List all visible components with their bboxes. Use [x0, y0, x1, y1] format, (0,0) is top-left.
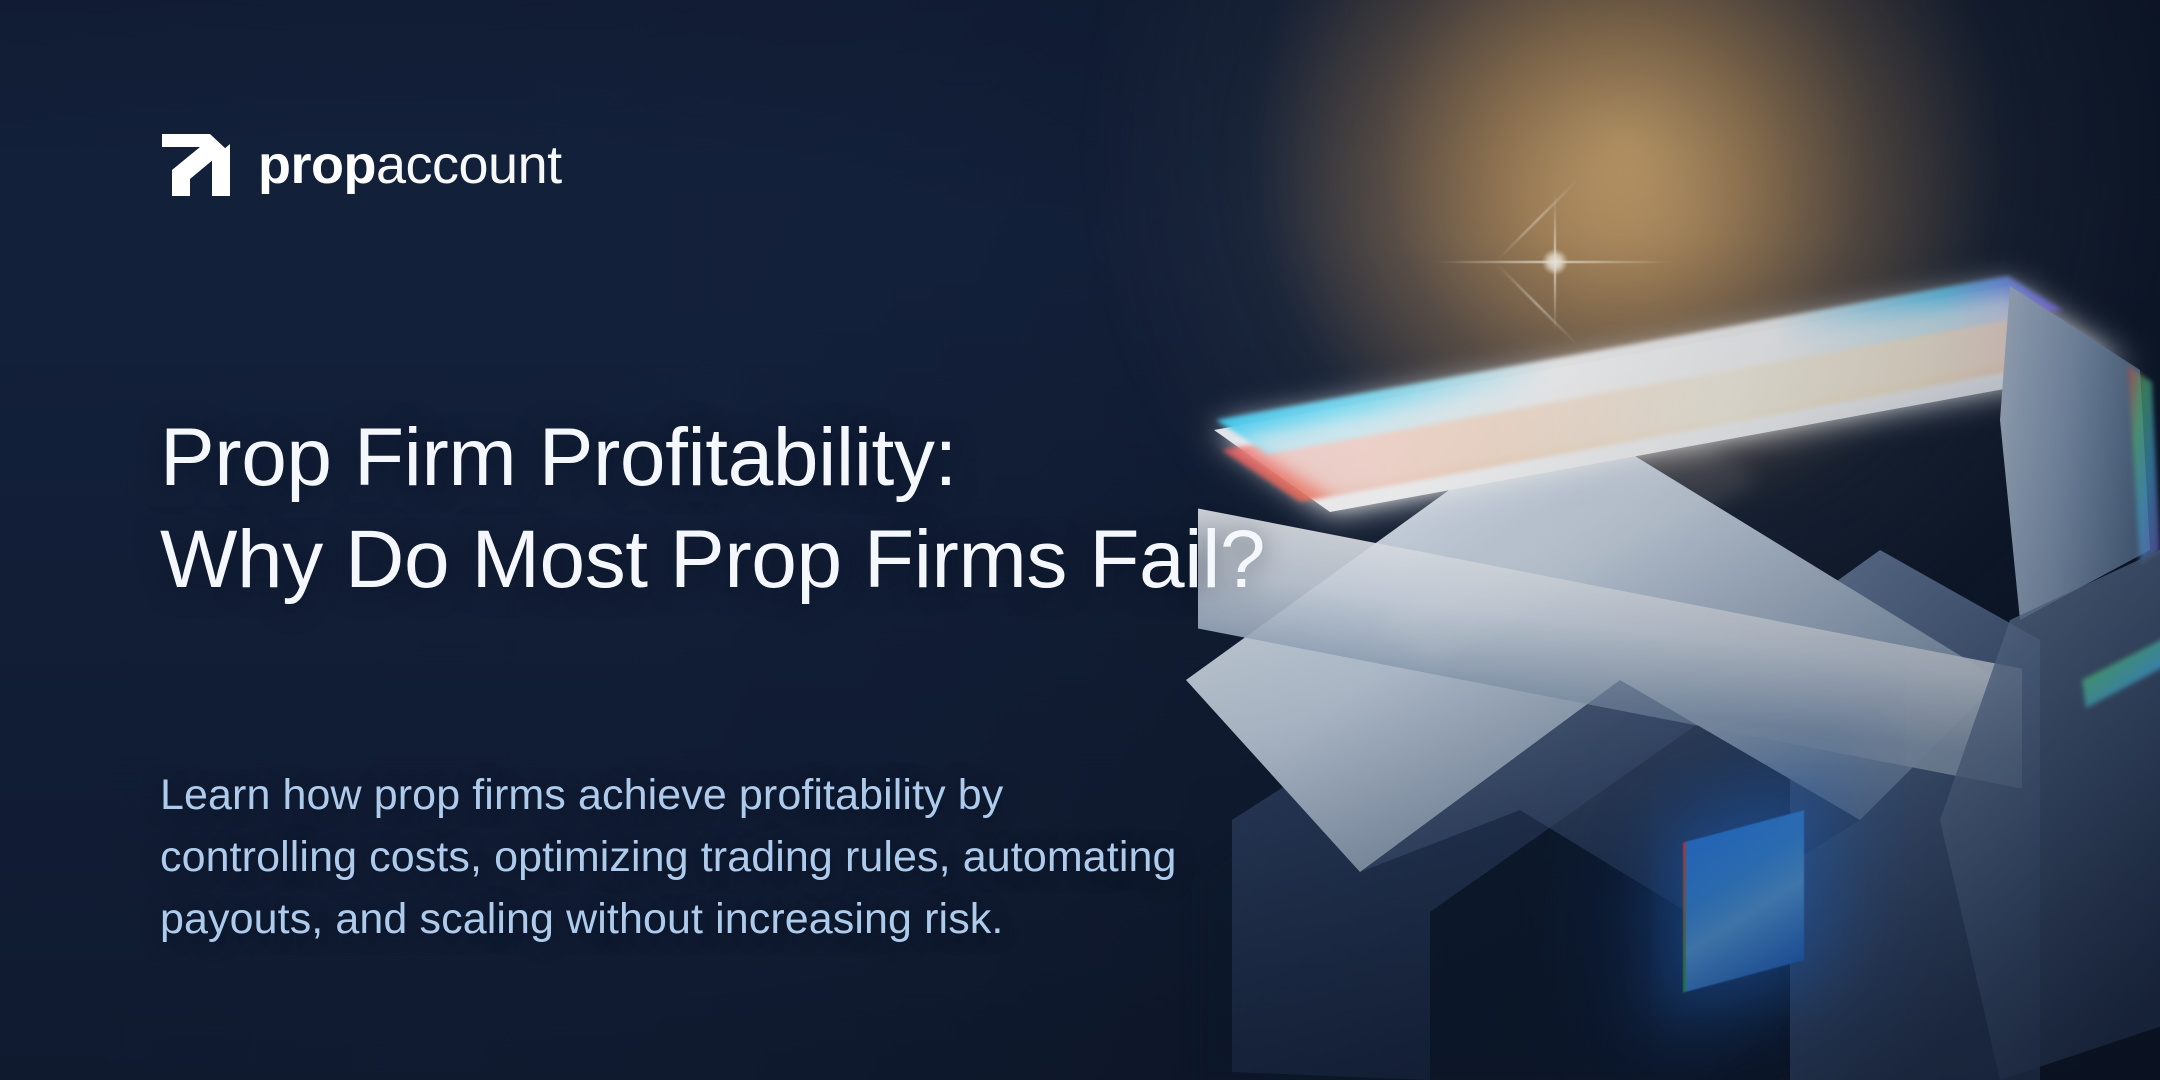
social-card-canvas: propaccount Prop Firm Profitability: Why… [0, 0, 2160, 1080]
wordmark-prop: prop [258, 135, 376, 195]
brand-wordmark: propaccount [258, 138, 562, 192]
page-subtitle: Learn how prop firms achieve profitabili… [160, 765, 1680, 951]
card-content: propaccount Prop Firm Profitability: Why… [0, 0, 2160, 1080]
page-title: Prop Firm Profitability: Why Do Most Pro… [160, 407, 1360, 610]
prop-arrow-seven-icon [160, 132, 232, 198]
wordmark-account: account [376, 135, 562, 195]
brand-logo[interactable]: propaccount [160, 132, 562, 198]
